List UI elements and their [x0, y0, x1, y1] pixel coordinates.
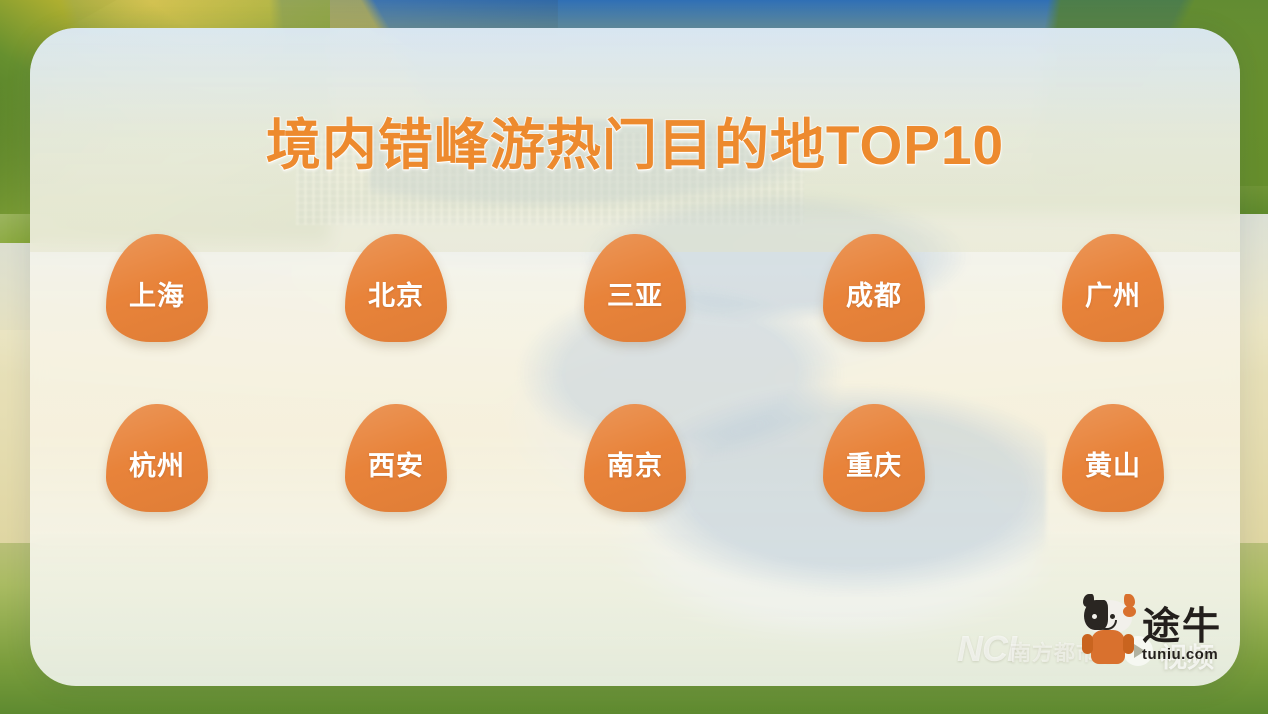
- destination-badge-10[interactable]: 黄山: [1062, 404, 1164, 512]
- destination-label: 上海: [129, 283, 185, 310]
- destination-label: 北京: [368, 283, 424, 310]
- content-card: 境内错峰游热门目的地TOP10 上海 北京 三亚 成都 广州: [30, 28, 1240, 686]
- destination-label: 西安: [368, 453, 424, 480]
- tuniu-url: tuniu.com: [1142, 647, 1222, 662]
- destination-badge-4[interactable]: 成都: [823, 234, 925, 342]
- destination-row-1: 上海 北京 三亚 成都 广州: [106, 234, 1164, 342]
- cow-arm-left: [1082, 634, 1093, 654]
- cow-arm-right: [1123, 634, 1134, 654]
- destination-row-2: 杭州 西安 南京 重庆 黄山: [106, 404, 1164, 512]
- destination-badge-5[interactable]: 广州: [1062, 234, 1164, 342]
- destination-badge-6[interactable]: 杭州: [106, 404, 208, 512]
- infographic-canvas: 境内错峰游热门目的地TOP10 上海 北京 三亚 成都 广州: [0, 0, 1268, 714]
- destination-badge-8[interactable]: 南京: [584, 404, 686, 512]
- destination-label: 南京: [607, 453, 663, 480]
- destination-label: 三亚: [607, 283, 663, 310]
- tuniu-logo: 途牛 tuniu.com: [1080, 594, 1222, 664]
- destination-badge-1[interactable]: 上海: [106, 234, 208, 342]
- cow-eye-left: [1092, 614, 1097, 619]
- tuniu-brand-name: 途牛: [1142, 609, 1222, 645]
- page-title: 境内错峰游热门目的地TOP10: [30, 100, 1240, 180]
- destination-label: 杭州: [129, 453, 185, 480]
- destination-badge-3[interactable]: 三亚: [584, 234, 686, 342]
- destination-label: 黄山: [1085, 453, 1141, 480]
- cow-eye-right: [1110, 614, 1115, 619]
- destination-badge-7[interactable]: 西安: [345, 404, 447, 512]
- destination-badge-2[interactable]: 北京: [345, 234, 447, 342]
- destination-badge-9[interactable]: 重庆: [823, 404, 925, 512]
- destination-label: 重庆: [846, 453, 902, 480]
- cow-body: [1091, 630, 1125, 664]
- destination-grid: 上海 北京 三亚 成都 广州 杭州: [106, 234, 1164, 512]
- destination-label: 成都: [846, 283, 902, 310]
- destination-label: 广州: [1085, 283, 1141, 310]
- cow-ear-right: [1123, 606, 1136, 617]
- tuniu-logo-text: 途牛 tuniu.com: [1142, 609, 1222, 664]
- cow-mascot-icon: [1080, 594, 1136, 664]
